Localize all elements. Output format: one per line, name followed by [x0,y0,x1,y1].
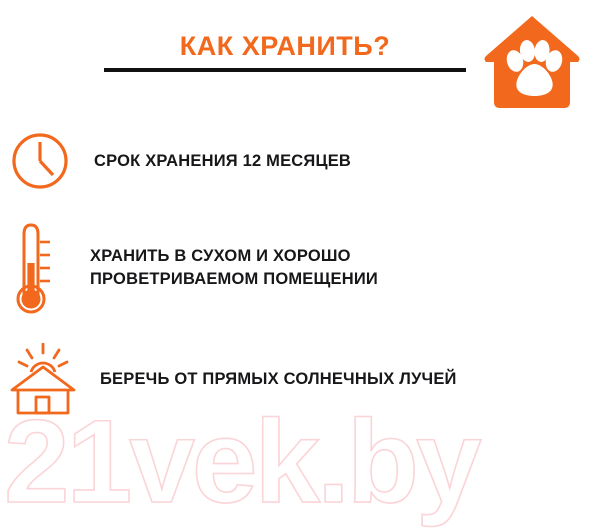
watermark-text: 21vek.by [4,398,481,528]
title-underline-rule [104,68,466,72]
house-door [36,397,49,413]
house-sun-icon [8,343,78,415]
page-title: КАК ХРАНИТЬ? [60,31,510,62]
clock-hour-hand [40,161,53,175]
info-row-dry-place-line-2: ПРОВЕТРИВАЕМОМ ПОМЕЩЕНИИ [90,268,378,291]
sun-ray-left [19,362,27,366]
house-roof [12,367,74,390]
info-row-sunlight-text: БЕРЕЧЬ ОТ ПРЯМЫХ СОЛНЕЧНЫХ ЛУЧЕЙ [100,368,457,391]
house-walls [18,390,68,413]
info-row-shelf-life-line-1: СРОК ХРАНЕНИЯ 12 МЕСЯЦЕВ [94,150,351,173]
info-row-sunlight: БЕРЕЧЬ ОТ ПРЯМЫХ СОЛНЕЧНЫХ ЛУЧЕЙ [8,343,457,415]
info-row-shelf-life: СРОК ХРАНЕНИЯ 12 МЕСЯЦЕВ [8,129,351,193]
sun-ray-upper-left [27,350,32,358]
info-row-dry-place-text: ХРАНИТЬ В СУХОМ И ХОРОШО ПРОВЕТРИВАЕМОМ … [90,245,378,291]
clock-icon [8,129,72,193]
thermometer-icon [10,220,62,316]
watermark: 21vek.by [0,398,600,528]
sun-ray-right [59,362,67,366]
storage-instructions-infographic: 21vek.by КАК ХРАНИТЬ? СРОК ХРАНЕНИЯ 12 М… [0,0,600,528]
info-row-dry-place-line-1: ХРАНИТЬ В СУХОМ И ХОРОШО [90,245,378,268]
info-row-shelf-life-text: СРОК ХРАНЕНИЯ 12 МЕСЯЦЕВ [94,150,351,173]
thermometer-mercury [27,263,34,297]
info-row-sunlight-line-1: БЕРЕЧЬ ОТ ПРЯМЫХ СОЛНЕЧНЫХ ЛУЧЕЙ [100,368,457,391]
dog-house-paw-icon [482,14,582,110]
info-row-dry-place: ХРАНИТЬ В СУХОМ И ХОРОШО ПРОВЕТРИВАЕМОМ … [10,220,378,316]
sun-ray-upper-right [54,350,59,358]
